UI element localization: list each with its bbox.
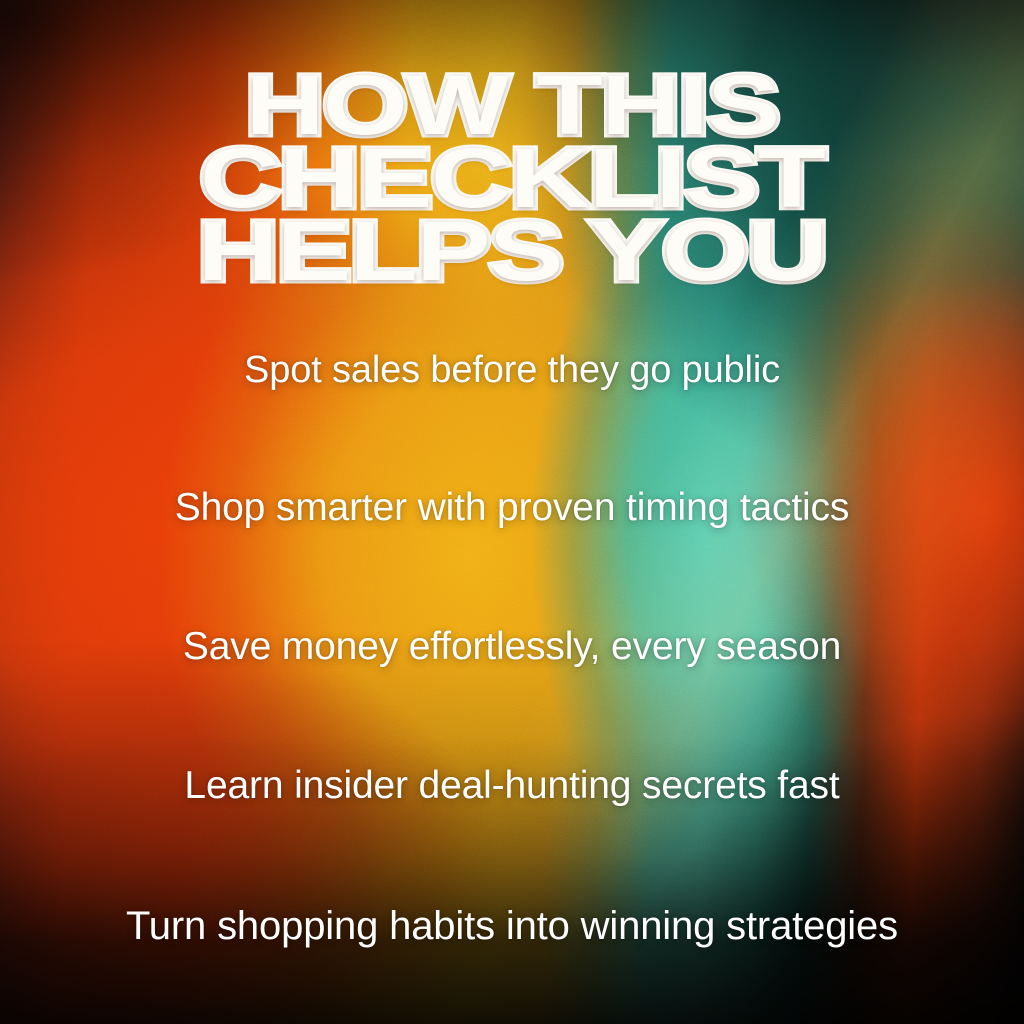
benefit-list: Spot sales before they go public Shop sm… — [0, 350, 1024, 1024]
poster-content: HOW THIS CHECKLIST HELPS YOU Spot sales … — [0, 0, 1024, 1024]
benefit-item-3: Save money effortlessly, every season — [183, 626, 841, 669]
benefit-item-2: Shop smarter with proven timing tactics — [175, 487, 850, 530]
poster-canvas: HOW THIS CHECKLIST HELPS YOU Spot sales … — [0, 0, 1024, 1024]
benefit-item-1: Spot sales before they go public — [244, 350, 780, 392]
headline-line-1: HOW THIS — [0, 72, 1024, 139]
headline-line-3: HELPS YOU — [0, 218, 1024, 285]
headline-line-2: CHECKLIST — [0, 145, 1024, 212]
benefit-item-4: Learn insider deal-hunting secrets fast — [184, 765, 839, 808]
benefit-item-5: Turn shopping habits into winning strate… — [126, 904, 898, 948]
headline-block: HOW THIS CHECKLIST HELPS YOU — [0, 72, 1024, 286]
